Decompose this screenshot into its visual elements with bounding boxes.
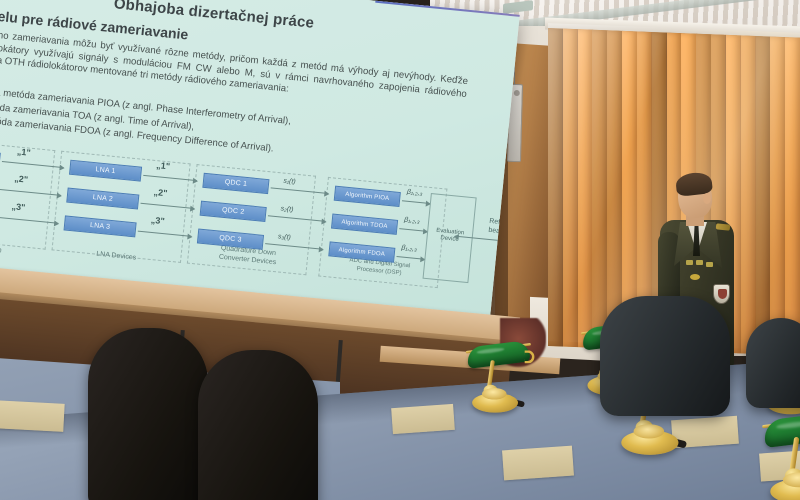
banker-lamp[interactable] [760, 416, 800, 500]
lamp-base [621, 430, 678, 454]
banker-lamp[interactable] [464, 344, 536, 415]
ear [703, 193, 711, 204]
blind-slat [578, 29, 593, 348]
paper-sheet[interactable] [0, 400, 65, 432]
bearing-label-1: β₁,₂,₃ [407, 189, 423, 197]
lamp-base [472, 393, 518, 413]
channel-label-lna-2: „2" [153, 187, 168, 198]
channel-label-lna-1: „1" [156, 160, 171, 171]
signal-label-2: s₂(t) [280, 205, 293, 213]
blind-slat [607, 30, 622, 349]
bearing-label-2: β₁,₂,₃ [404, 217, 420, 225]
office-chair[interactable] [746, 318, 800, 408]
conference-room-photo: Obhajoba dizertačnej práce modelu pre rá… [0, 0, 800, 500]
blind-slat [756, 36, 771, 355]
office-chair[interactable] [198, 350, 318, 500]
lamp-hook [525, 350, 535, 363]
lamp-base [770, 479, 800, 500]
medal-ribbon [696, 260, 703, 265]
channel-label-1: „1" [17, 146, 32, 157]
paper-sheet[interactable] [502, 446, 574, 481]
channel-label-2: „2" [14, 173, 29, 184]
blind-slat [741, 35, 756, 354]
signal-label-1: s₁(t) [283, 178, 296, 186]
office-chair[interactable] [600, 296, 730, 416]
lamp-shade [466, 340, 530, 369]
channel-label-lna-3: „3" [150, 215, 165, 226]
medal-ribbon [706, 262, 713, 267]
uniform-shield-patch [713, 284, 730, 304]
paper-sheet[interactable] [391, 404, 455, 434]
blind-slat [548, 28, 563, 347]
blind-slat [770, 37, 785, 356]
signal-label-3: s₃(t) [278, 233, 292, 241]
bearing-label-3: β₁,₂,₃ [401, 244, 417, 252]
blind-slat [592, 30, 607, 349]
uniform-badge [690, 274, 700, 280]
office-chair[interactable] [88, 328, 208, 500]
blind-slat [563, 29, 578, 348]
blind-slat [785, 37, 800, 356]
medal-ribbon [686, 260, 693, 265]
channel-label-3: „3" [11, 201, 26, 212]
